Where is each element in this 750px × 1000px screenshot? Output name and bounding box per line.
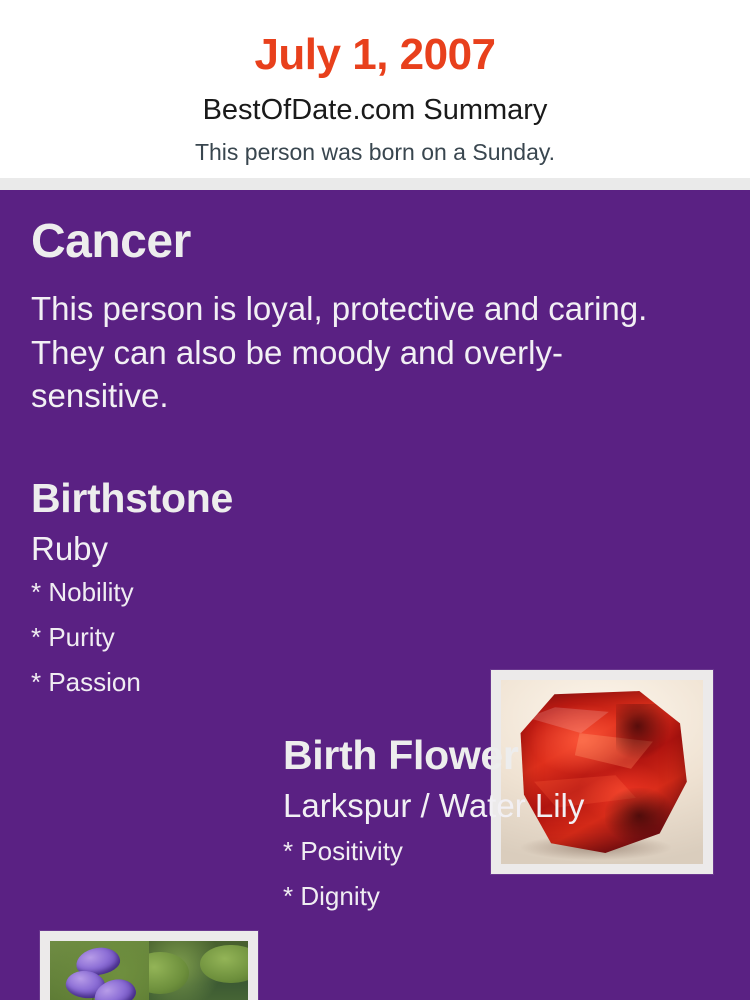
list-item: * Positivity xyxy=(283,838,723,864)
lily-pad xyxy=(149,952,189,994)
birth-flower-name: Larkspur / Water Lily xyxy=(283,776,723,822)
list-item: * Passion xyxy=(31,650,461,695)
birth-flower-image xyxy=(50,941,248,1000)
water-lily-photo xyxy=(149,941,248,1000)
list-item: * Dignity xyxy=(283,864,723,909)
site-name: BestOfDate.com Summary xyxy=(0,77,750,125)
page-title-date: July 1, 2007 xyxy=(0,0,750,77)
flower-photo-pair xyxy=(50,941,248,1000)
birthstone-heading: Birthstone xyxy=(31,478,461,519)
day-of-week-note: This person was born on a Sunday. xyxy=(0,125,750,164)
page-header: July 1, 2007 BestOfDate.com Summary This… xyxy=(0,0,750,178)
zodiac-description: This person is loyal, protective and car… xyxy=(31,287,661,418)
header-divider xyxy=(0,178,750,190)
larkspur-photo xyxy=(50,941,149,1000)
zodiac-sign-title: Cancer xyxy=(31,218,191,266)
birthstone-section: Birthstone Ruby * Nobility * Purity * Pa… xyxy=(31,478,461,695)
summary-page: July 1, 2007 BestOfDate.com Summary This… xyxy=(0,0,750,1000)
list-item: * Purity xyxy=(31,605,461,650)
birth-flower-section: Birth Flower Larkspur / Water Lily * Pos… xyxy=(283,735,723,909)
birth-flower-image-frame xyxy=(40,931,258,1000)
birth-flower-trait-list: * Positivity * Dignity xyxy=(283,822,723,909)
birthstone-trait-list: * Nobility * Purity * Passion xyxy=(31,565,461,695)
lily-pad xyxy=(200,945,248,984)
birth-flower-heading: Birth Flower xyxy=(283,735,723,776)
birthstone-name: Ruby xyxy=(31,519,461,565)
list-item: * Nobility xyxy=(31,579,461,605)
summary-body: Cancer This person is loyal, protective … xyxy=(0,190,750,1000)
ruby-facet xyxy=(527,707,608,733)
